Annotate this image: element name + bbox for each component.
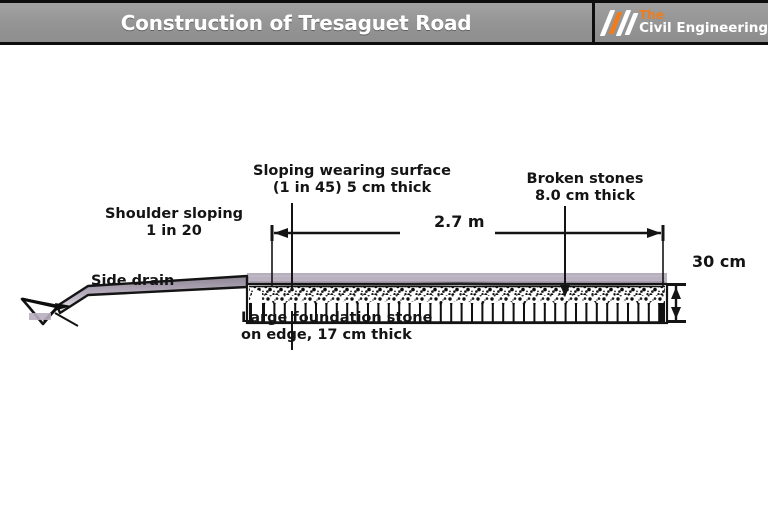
- depth-dimension-line: [668, 284, 686, 322]
- triple-slash-icon: [603, 10, 637, 36]
- page-title: Construction of Tresaguet Road: [121, 11, 472, 35]
- brand-logo[interactable]: The Civil Engineering: [595, 3, 768, 42]
- broken-stones-layer: [249, 287, 665, 304]
- logo-brand-label: Civil Engineering: [639, 22, 768, 36]
- width-dimension-label: 2.7 m: [434, 213, 485, 232]
- wearing-surface-label: Sloping wearing surface (1 in 45) 5 cm t…: [248, 163, 456, 197]
- broken-stones-line2: 8.0 cm thick: [535, 188, 635, 204]
- depth-dimension-label: 30 cm: [692, 253, 746, 272]
- side-drain-text: Side drain: [91, 273, 174, 289]
- wearing-surface-line2: (1 in 45) 5 cm thick: [273, 180, 431, 196]
- depth-dimension-value: 30 cm: [692, 252, 746, 271]
- width-dimension-value: 2.7 m: [434, 212, 485, 231]
- title-panel: Construction of Tresaguet Road: [0, 3, 595, 42]
- shoulder-slope-label: Shoulder sloping 1 in 20: [86, 206, 262, 240]
- logo-text: The Civil Engineering: [639, 9, 768, 36]
- header-bar: Construction of Tresaguet Road The Civil…: [0, 0, 768, 45]
- shoulder-slope-line1: Shoulder sloping: [105, 206, 243, 222]
- side-drain-label: Side drain: [91, 273, 174, 290]
- leader-side-drain: [55, 313, 78, 326]
- broken-stones-label: Broken stones 8.0 cm thick: [500, 171, 670, 205]
- foundation-stone-label: Large foundation stone on edge, 17 cm th…: [241, 310, 432, 344]
- broken-stones-line1: Broken stones: [527, 171, 644, 187]
- shoulder-slope-line2: 1 in 20: [146, 223, 202, 239]
- wearing-surface-line1: Sloping wearing surface: [253, 163, 451, 179]
- foundation-stone-line1: Large foundation stone: [241, 310, 432, 326]
- foundation-stone-line2: on edge, 17 cm thick: [241, 327, 412, 343]
- road-cross-section-diagram: Shoulder sloping 1 in 20 Side drain Slop…: [0, 45, 768, 509]
